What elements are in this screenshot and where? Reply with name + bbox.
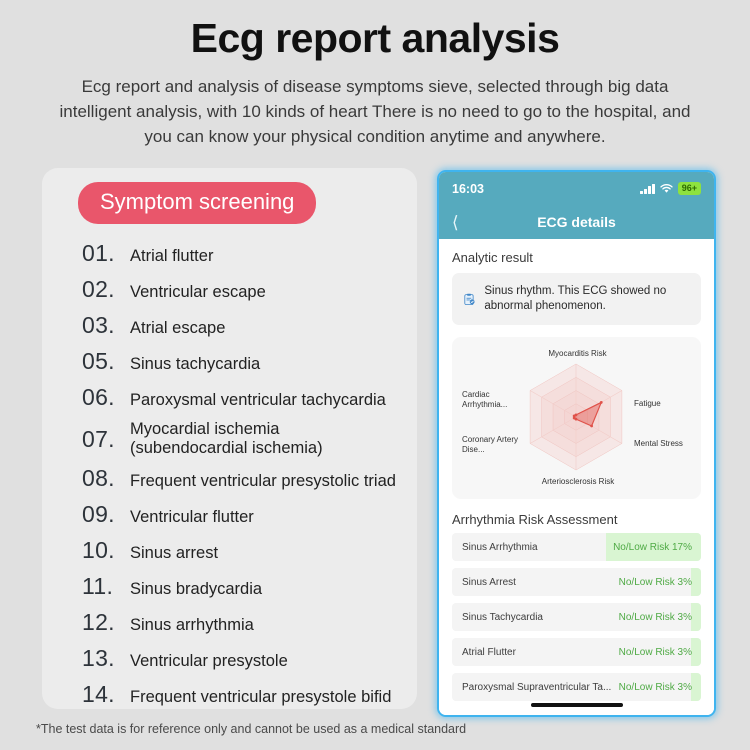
poster-root: Ecg report analysis Ecg report and analy…: [0, 0, 750, 750]
list-item: 10.Sinus arrest: [82, 537, 409, 564]
list-item-number: 05.: [82, 348, 130, 375]
list-item: 02.Ventricular escape: [82, 276, 409, 303]
symptom-screening-badge: Symptom screening: [78, 182, 316, 224]
status-bar: 16:03 96+: [439, 172, 714, 205]
list-item: 05.Sinus tachycardia: [82, 348, 409, 375]
list-item-number: 09.: [82, 501, 130, 528]
status-time: 16:03: [452, 182, 484, 196]
list-item-label: Atrial flutter: [130, 247, 213, 266]
radar-axis-label: Arteriosclerosis Risk: [514, 477, 642, 487]
list-item: 13.Ventricular presystole: [82, 645, 409, 672]
risk-assessment-heading: Arrhythmia Risk Assessment: [439, 499, 714, 533]
radar-data-point: [573, 415, 576, 418]
phone-mockup: 16:03 96+ ⟨ ECG details Analytic result: [437, 170, 716, 717]
list-item: 03.Atrial escape: [82, 312, 409, 339]
list-item: 08.Frequent ventricular presystolic tria…: [82, 465, 409, 492]
radar-axis-label: Mental Stress: [634, 439, 694, 449]
list-item-label: Sinus bradycardia: [130, 580, 262, 599]
list-item: 11.Sinus bradycardia: [82, 573, 409, 600]
list-item-number: 02.: [82, 276, 130, 303]
risk-row-name: Atrial Flutter: [452, 647, 516, 658]
analytic-result-box: Sinus rhythm. This ECG showed no abnorma…: [452, 273, 701, 325]
list-item-number: 01.: [82, 240, 130, 267]
risk-row[interactable]: Atrial FlutterNo/Low Risk 3%: [452, 638, 701, 666]
radar-chart-card: Myocarditis RiskFatigueMental StressArte…: [452, 337, 701, 499]
list-item-label: Frequent ventricular presystolic triad: [130, 472, 396, 491]
risk-row-value: No/Low Risk 3%: [619, 577, 701, 588]
analytic-result-heading: Analytic result: [439, 239, 714, 273]
symptom-list: 01.Atrial flutter02.Ventricular escape03…: [82, 240, 409, 717]
list-item-number: 14.: [82, 681, 130, 708]
status-icons: 96+: [640, 182, 701, 195]
clipboard-check-icon: [464, 290, 475, 309]
symptom-screening-card: Symptom screening 01.Atrial flutter02.Ve…: [42, 168, 417, 709]
list-item-number: 08.: [82, 465, 130, 492]
page-subtitle: Ecg report and analysis of disease sympt…: [55, 74, 695, 149]
navbar-title: ECG details: [439, 214, 714, 230]
list-item-number: 11.: [82, 573, 130, 600]
list-item: 09.Ventricular flutter: [82, 501, 409, 528]
risk-row-list: Sinus ArrhythmiaNo/Low Risk 17%Sinus Arr…: [439, 533, 714, 701]
risk-row-value: No/Low Risk 3%: [619, 682, 701, 693]
list-item-label: Frequent ventricular presystole bifid: [130, 688, 391, 707]
risk-row-value: No/Low Risk 3%: [619, 612, 701, 623]
risk-row-value: No/Low Risk 17%: [613, 542, 701, 553]
radar-axis-label: Fatigue: [634, 399, 694, 409]
risk-row-value: No/Low Risk 3%: [619, 647, 701, 658]
risk-row[interactable]: Paroxysmal Supraventricular Ta...No/Low …: [452, 673, 701, 701]
list-item-number: 13.: [82, 645, 130, 672]
list-item: 01.Atrial flutter: [82, 240, 409, 267]
disclaimer-note: *The test data is for reference only and…: [36, 722, 466, 736]
list-item-label: Sinus arrhythmia: [130, 616, 254, 635]
page-header: Ecg report analysis Ecg report and analy…: [0, 0, 750, 149]
list-item-number: 03.: [82, 312, 130, 339]
risk-row-name: Sinus Tachycardia: [452, 612, 543, 623]
radar-chart: [452, 337, 701, 499]
list-item-label: Ventricular presystole: [130, 652, 288, 671]
list-item-number: 12.: [82, 609, 130, 636]
signal-bars-icon: [640, 184, 655, 194]
risk-row-name: Sinus Arrhythmia: [452, 542, 538, 553]
list-item-label: Sinus tachycardia: [130, 355, 260, 374]
list-item-label: Ventricular escape: [130, 283, 266, 302]
analytic-result-text: Sinus rhythm. This ECG showed no abnorma…: [484, 284, 689, 314]
list-item-label: Myocardial ischemia (subendocardial isch…: [130, 420, 323, 458]
radar-data-point: [590, 425, 593, 428]
list-item-label: Atrial escape: [130, 319, 225, 338]
risk-row-name: Sinus Arrest: [452, 577, 516, 588]
page-title: Ecg report analysis: [0, 14, 750, 62]
radar-axis-label: Coronary Artery Dise...: [462, 435, 524, 455]
risk-row[interactable]: Sinus ArrestNo/Low Risk 3%: [452, 568, 701, 596]
home-indicator: [439, 703, 714, 707]
list-item-number: 07.: [82, 426, 130, 453]
list-item-label: Paroxysmal ventricular tachycardia: [130, 391, 386, 410]
radar-axis-label: Myocarditis Risk: [520, 349, 635, 359]
battery-badge: 96+: [678, 182, 701, 195]
risk-row-name: Paroxysmal Supraventricular Ta...: [452, 682, 611, 693]
list-item: 07.Myocardial ischemia (subendocardial i…: [82, 420, 409, 458]
app-navbar: ⟨ ECG details: [439, 205, 714, 239]
list-item: 14.Frequent ventricular presystole bifid: [82, 681, 409, 708]
list-item: 06.Paroxysmal ventricular tachycardia: [82, 384, 409, 411]
app-screen: Analytic result Sinus rhythm. This ECG s…: [439, 239, 714, 715]
radar-axis-label: Cardiac Arrhythmia...: [462, 390, 524, 410]
risk-row[interactable]: Sinus TachycardiaNo/Low Risk 3%: [452, 603, 701, 631]
list-item-label: Sinus arrest: [130, 544, 218, 563]
risk-row[interactable]: Sinus ArrhythmiaNo/Low Risk 17%: [452, 533, 701, 561]
wifi-icon: [660, 184, 673, 194]
list-item-number: 06.: [82, 384, 130, 411]
chevron-left-icon[interactable]: ⟨: [452, 214, 459, 231]
list-item-number: 10.: [82, 537, 130, 564]
radar-data-point: [600, 401, 603, 404]
list-item-label: Ventricular flutter: [130, 508, 254, 527]
list-item: 12.Sinus arrhythmia: [82, 609, 409, 636]
